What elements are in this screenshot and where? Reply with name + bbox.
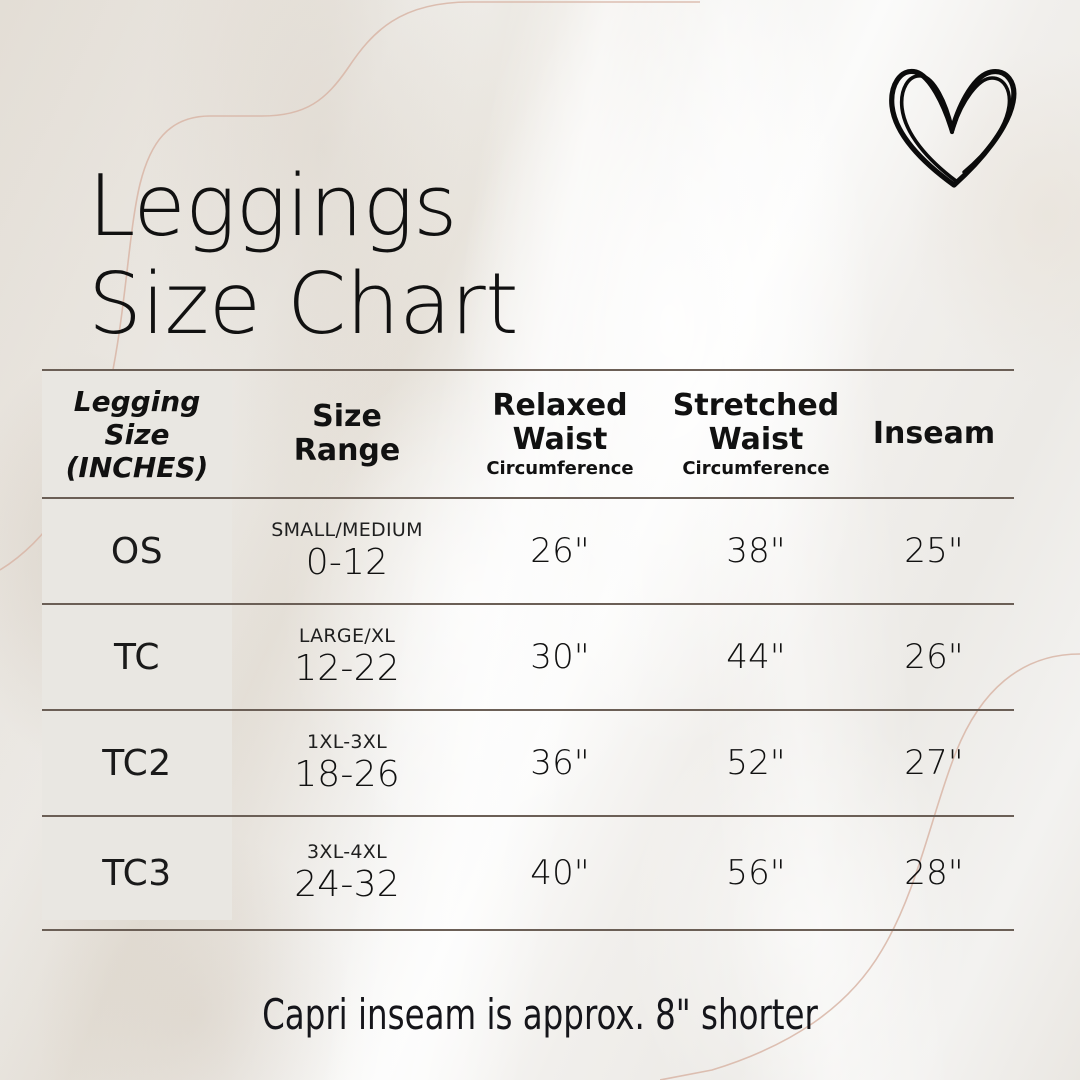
table-row: TC3 3XL-4XL 24-32 40" 56" 28": [42, 816, 1014, 930]
header-stretched-line1: Stretched: [662, 389, 850, 423]
table-row: TC2 1XL-3XL 18-26 36" 52" 27": [42, 710, 1014, 816]
row-0-range-label: SMALL/MEDIUM: [236, 518, 458, 542]
row-3-range-value: 24-32: [236, 864, 458, 906]
cell-inseam: 27": [854, 710, 1014, 816]
header-relaxed-line1: Relaxed: [466, 389, 654, 423]
cell-inseam: 26": [854, 604, 1014, 710]
cell-size-range: 3XL-4XL 24-32: [232, 816, 462, 930]
size-chart-table: Legging Size (INCHES) Size Range Relaxed…: [42, 369, 1014, 931]
cell-relaxed-waist: 36": [462, 710, 658, 816]
row-1-range-label: LARGE/XL: [236, 624, 458, 648]
header-stretched-line2: Waist: [662, 423, 850, 457]
row-2-range-value: 18-26: [236, 754, 458, 796]
column-header-legging-size: Legging Size (INCHES): [42, 370, 232, 498]
cell-stretched-waist: 56": [658, 816, 854, 930]
column-header-size-range: Size Range: [232, 370, 462, 498]
header-relaxed-line2: Waist: [466, 423, 654, 457]
size-chart-table-wrapper: Legging Size (INCHES) Size Range Relaxed…: [42, 369, 1014, 931]
row-3-stretched-waist: 56": [662, 853, 850, 893]
row-1-inseam: 26": [858, 637, 1010, 677]
row-2-inseam: 27": [858, 743, 1010, 783]
column-header-inseam: Inseam: [854, 370, 1014, 498]
row-2-stretched-waist: 52": [662, 743, 850, 783]
title-line-2: Size Chart: [88, 256, 788, 354]
row-1-stretched-waist: 44": [662, 637, 850, 677]
header-relaxed-circumference: Circumference: [466, 458, 654, 480]
cell-stretched-waist: 44": [658, 604, 854, 710]
table-body: OS SMALL/MEDIUM 0-12 26" 38" 25": [42, 498, 1014, 930]
row-1-range-value: 12-22: [236, 648, 458, 690]
row-0-range-value: 0-12: [236, 542, 458, 584]
cell-size: TC3: [42, 816, 232, 930]
row-2-relaxed-waist: 36": [466, 743, 654, 783]
size-chart-canvas: Leggings Size Chart Legging Size (INCHES…: [0, 0, 1080, 1080]
cell-size: TC: [42, 604, 232, 710]
header-legging-size-sub: (INCHES): [46, 451, 228, 484]
table-header-row: Legging Size (INCHES) Size Range Relaxed…: [42, 370, 1014, 498]
header-size-range-sub: Range: [236, 434, 458, 468]
cell-size-range: LARGE/XL 12-22: [232, 604, 462, 710]
table-row: TC LARGE/XL 12-22 30" 44" 26": [42, 604, 1014, 710]
header-inseam-main: Inseam: [858, 417, 1010, 451]
footer-note: Capri inseam is approx. 8" shorter: [76, 990, 1005, 1039]
cell-inseam: 25": [854, 498, 1014, 604]
row-0-size: OS: [46, 531, 228, 572]
cell-size-range: SMALL/MEDIUM 0-12: [232, 498, 462, 604]
row-0-inseam: 25": [858, 531, 1010, 571]
row-1-relaxed-waist: 30": [466, 637, 654, 677]
page-title: Leggings Size Chart: [88, 158, 788, 354]
column-header-stretched-waist: Stretched Waist Circumference: [658, 370, 854, 498]
row-3-range-label: 3XL-4XL: [236, 840, 458, 864]
cell-size: TC2: [42, 710, 232, 816]
row-1-size: TC: [46, 637, 228, 678]
cell-relaxed-waist: 26": [462, 498, 658, 604]
cell-relaxed-waist: 40": [462, 816, 658, 930]
cell-inseam: 28": [854, 816, 1014, 930]
row-3-relaxed-waist: 40": [466, 853, 654, 893]
row-0-stretched-waist: 38": [662, 531, 850, 571]
row-2-size: TC2: [46, 743, 228, 784]
table-row: OS SMALL/MEDIUM 0-12 26" 38" 25": [42, 498, 1014, 604]
row-0-relaxed-waist: 26": [466, 531, 654, 571]
title-line-1: Leggings: [88, 158, 788, 256]
cell-relaxed-waist: 30": [462, 604, 658, 710]
row-2-range-label: 1XL-3XL: [236, 730, 458, 754]
row-3-size: TC3: [46, 853, 228, 894]
cell-size-range: 1XL-3XL 18-26: [232, 710, 462, 816]
cell-stretched-waist: 38": [658, 498, 854, 604]
heart-doodle-icon: [878, 52, 1028, 192]
cell-stretched-waist: 52": [658, 710, 854, 816]
row-3-inseam: 28": [858, 853, 1010, 893]
header-size-range-main: Size: [236, 400, 458, 434]
cell-size: OS: [42, 498, 232, 604]
header-legging-size-main: Legging Size: [46, 385, 228, 451]
header-stretched-circumference: Circumference: [662, 458, 850, 480]
column-header-relaxed-waist: Relaxed Waist Circumference: [462, 370, 658, 498]
